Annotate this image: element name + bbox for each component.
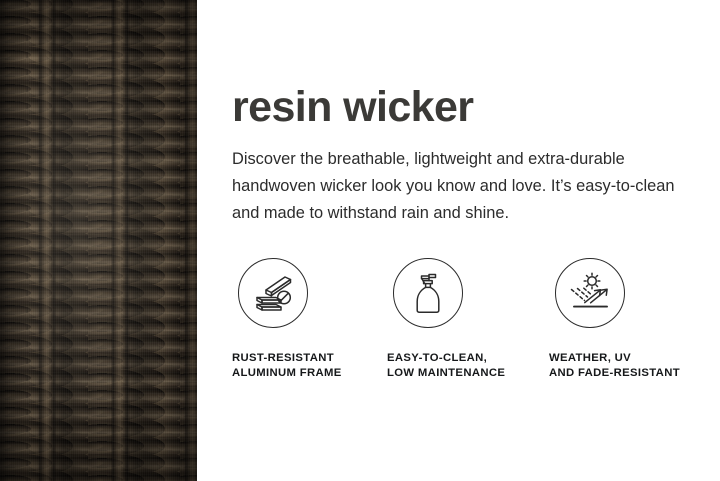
feature-caption: RUST-RESISTANT ALUMINUM FRAME [232, 351, 387, 380]
aluminum-plates-no-rust-icon [252, 273, 294, 313]
feature-icon-circle [555, 258, 625, 328]
banner-description: Discover the breathable, lightweight and… [232, 146, 702, 227]
banner-content: resin wicker Discover the breathable, li… [197, 0, 720, 481]
feature-item-easy-to-clean: EASY-TO-CLEAN, LOW MAINTENANCE [387, 258, 549, 380]
feature-item-weather-uv-resistant: WEATHER, UV AND FADE-RESISTANT [549, 258, 704, 380]
feature-item-rust-resistant: RUST-RESISTANT ALUMINUM FRAME [232, 258, 387, 380]
feature-list: RUST-RESISTANT ALUMINUM FRAME [232, 258, 704, 380]
wicker-texture-image [0, 0, 197, 481]
spray-bottle-icon [409, 271, 447, 315]
page-title: resin wicker [232, 85, 473, 129]
resin-wicker-promo-banner: resin wicker Discover the breathable, li… [0, 0, 720, 481]
sun-uv-reflect-icon [567, 272, 613, 314]
feature-icon-circle [393, 258, 463, 328]
feature-caption: EASY-TO-CLEAN, LOW MAINTENANCE [387, 351, 549, 380]
wicker-vignette [0, 0, 197, 481]
feature-icon-circle [238, 258, 308, 328]
feature-caption: WEATHER, UV AND FADE-RESISTANT [549, 351, 704, 380]
